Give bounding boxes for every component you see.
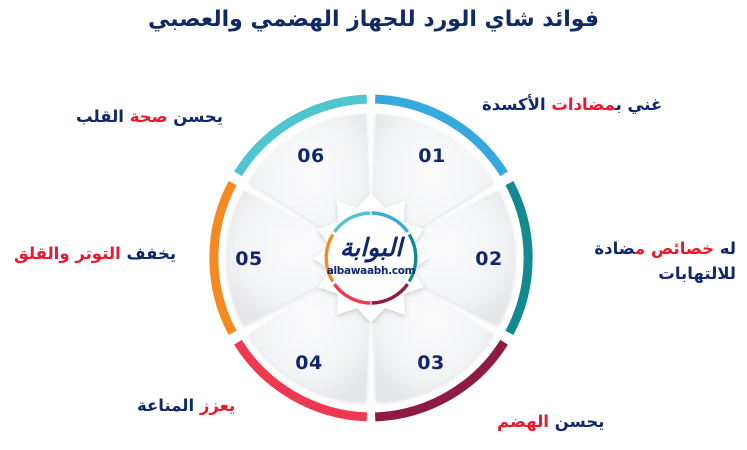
label-fragment: يخفف bbox=[121, 244, 176, 263]
segment-number-06: 06 bbox=[288, 145, 334, 167]
segment-label-01: غني بمضادات الأكسدة bbox=[482, 92, 662, 117]
segment-number-03: 03 bbox=[408, 352, 454, 374]
logo-domain-text: albawaabh.com bbox=[306, 265, 436, 277]
segment-label-05: يخفف التوتر والقلق bbox=[14, 241, 176, 266]
segment-number-04: 04 bbox=[286, 352, 332, 374]
label-fragment: يعزز bbox=[194, 396, 235, 415]
label-fragment: المناعة bbox=[137, 396, 194, 415]
logo-brand-arabic: البوابة bbox=[306, 233, 436, 262]
segment-number-02: 02 bbox=[466, 248, 512, 270]
label-fragment: يحسن bbox=[168, 107, 223, 126]
label-fragment: يحسن bbox=[549, 412, 604, 431]
segment-label-06: يحسن صحة القلب bbox=[76, 104, 223, 129]
label-fragment: القلب bbox=[76, 107, 130, 126]
segment-label-04: يعزز المناعة bbox=[137, 393, 235, 418]
label-fragment: مضادات bbox=[551, 95, 615, 114]
label-fragment: غني ب bbox=[616, 95, 663, 114]
center-logo: البوابة albawaabh.com bbox=[306, 193, 436, 323]
label-fragment: خصائص م bbox=[635, 239, 714, 258]
infographic-wheel: 01 02 03 04 05 06 غني بمضادات الأكسدة له… bbox=[0, 0, 747, 450]
segment-number-01: 01 bbox=[409, 145, 455, 167]
label-fragment: الأكسدة bbox=[482, 95, 551, 114]
label-fragment: له bbox=[714, 239, 736, 258]
label-fragment: صحة bbox=[130, 107, 168, 126]
label-fragment: الهضم bbox=[497, 412, 549, 431]
segment-number-05: 05 bbox=[226, 248, 272, 270]
label-fragment: التوتر والقلق bbox=[14, 244, 121, 263]
segment-label-02: له خصائص مضادة للالتهابات bbox=[560, 236, 736, 286]
segment-label-03: يحسن الهضم bbox=[497, 409, 604, 434]
